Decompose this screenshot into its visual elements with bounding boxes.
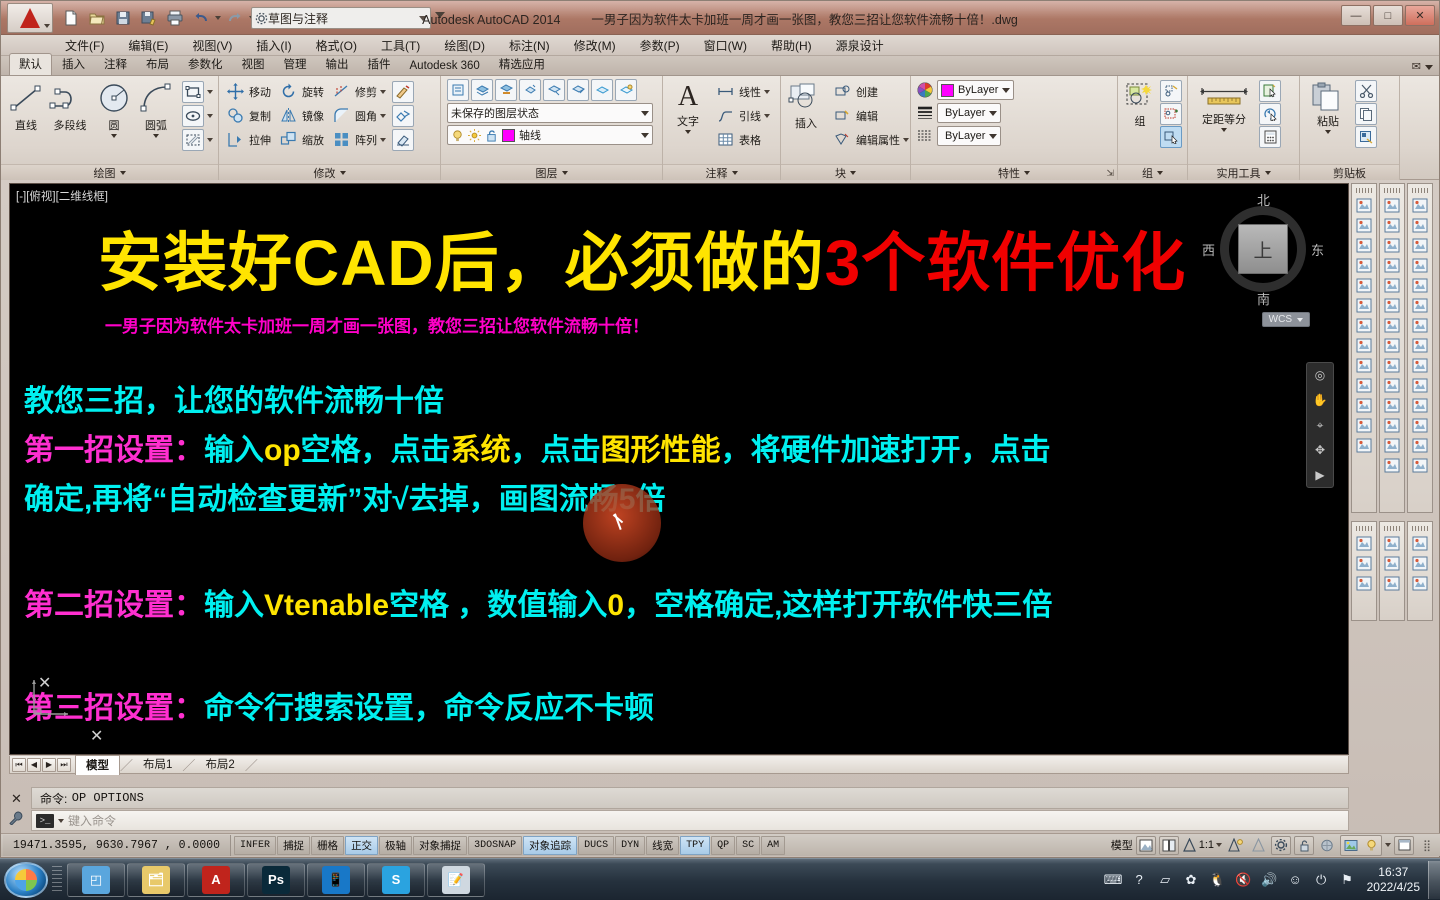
modify-scale-button[interactable]: 缩放 xyxy=(277,128,324,151)
menu-item[interactable]: 源泉设计 xyxy=(824,35,896,56)
layer-isolate-icon[interactable] xyxy=(567,79,589,101)
chevron-down-icon[interactable] xyxy=(120,171,126,175)
toolbar-button-1-icon[interactable] xyxy=(1382,534,1402,553)
color-wheel-icon[interactable] xyxy=(917,82,933,98)
property-row-linetype: ByLayer xyxy=(917,126,1001,146)
status-toggle[interactable]: 栅格 xyxy=(311,836,344,855)
toolbar-button-14-icon[interactable] xyxy=(1382,456,1402,475)
qq-penguin-icon[interactable]: 🐧 xyxy=(1208,870,1227,889)
toolbar-button-5-icon[interactable] xyxy=(1354,276,1374,295)
modify-trim-button[interactable]: 修剪 xyxy=(330,80,386,103)
toolbar-button-3-icon[interactable] xyxy=(1354,236,1374,255)
status-toggle[interactable]: 线宽 xyxy=(646,836,679,855)
toolbar-button-4-icon[interactable] xyxy=(1382,256,1402,275)
taskbar-item-autocad[interactable]: A xyxy=(187,863,245,897)
toolbar-button-1-icon[interactable] xyxy=(1382,196,1402,215)
view-cube-east-label[interactable]: 东 xyxy=(1311,240,1324,259)
layout-nav-button[interactable]: ▶ xyxy=(42,758,56,772)
menu-item[interactable]: 绘图(D) xyxy=(432,35,497,56)
toolbar-button-6-icon[interactable] xyxy=(1410,296,1430,315)
toolbar-grip[interactable] xyxy=(1356,526,1372,531)
chevron-down-icon[interactable] xyxy=(58,819,64,823)
ribbon-minimize-icon[interactable] xyxy=(1425,65,1433,70)
chevron-down-icon[interactable] xyxy=(1265,171,1271,175)
title-bar: 草图与注释 Autodesk AutoCAD 2014 一男子因为软件太卡加班一… xyxy=(1,1,1439,35)
chevron-down-icon[interactable] xyxy=(153,134,159,138)
canvas-text-run: 输入 xyxy=(204,589,264,622)
toolbar-button-3-icon[interactable] xyxy=(1382,574,1402,593)
action-center-icon[interactable]: ⚑ xyxy=(1338,870,1357,889)
model-space-icon[interactable] xyxy=(1136,836,1156,855)
block-insert-label: 插入 xyxy=(795,115,817,131)
annotation-scale-control[interactable]: 1:1 xyxy=(1182,838,1222,852)
canvas-subtitle-text: 一男子因为软件太卡加班一周才画一张图，教您三招让您软件流畅十倍！ xyxy=(105,312,649,337)
status-toggle[interactable]: 对象追踪 xyxy=(523,836,577,855)
ribbon-panel-clipboard-title[interactable]: 剪贴板 xyxy=(1300,164,1399,180)
menu-item[interactable]: 窗口(W) xyxy=(692,35,759,56)
ribbon-panel-properties-title[interactable]: 特性 ⇲ xyxy=(911,164,1117,180)
status-toggle[interactable]: 对象捕捉 xyxy=(413,836,467,855)
annotation-visibility-icon[interactable] xyxy=(1225,836,1245,855)
mirror-icon xyxy=(277,105,299,127)
toolbar-button-8-icon[interactable] xyxy=(1410,336,1430,355)
block-create-button[interactable]: 创建 xyxy=(831,80,909,103)
modify-move-button[interactable]: 移动 xyxy=(224,80,271,103)
layout-nav-button[interactable]: ⏮ xyxy=(12,758,26,772)
toolbar-button-13-icon[interactable] xyxy=(1354,436,1374,455)
layer-properties-icon[interactable] xyxy=(447,79,469,101)
chevron-down-icon[interactable] xyxy=(903,138,909,142)
toolbar-button-11-icon[interactable] xyxy=(1410,396,1430,415)
modify-stretch-button[interactable]: 拉伸 xyxy=(224,128,271,151)
menu-item[interactable]: 插入(I) xyxy=(244,35,303,56)
draw-arc-button[interactable]: 圆弧 xyxy=(136,80,176,138)
toolbar-button-10-icon[interactable] xyxy=(1410,376,1430,395)
group-edit-icon[interactable] xyxy=(1160,103,1182,125)
toolbar-button-4-icon[interactable] xyxy=(1354,256,1374,275)
status-toggle[interactable]: INFER xyxy=(234,836,276,855)
canvas-text-run: 确定,再将“自动检查更新”对√去掉，画图流畅5倍 xyxy=(24,483,665,516)
toolbar-button-6-icon[interactable] xyxy=(1354,296,1374,315)
layout-nav-button[interactable]: ⏭ xyxy=(57,758,71,772)
lineweight-icon[interactable] xyxy=(917,105,933,121)
close-button[interactable]: ✕ xyxy=(1405,5,1435,26)
ribbon-panel-draw: 直线 多段线 圆 圆弧 xyxy=(1,76,219,180)
toolbar-button-9-icon[interactable] xyxy=(1410,356,1430,375)
status-toggle[interactable]: TPY xyxy=(680,836,710,855)
chevron-down-icon[interactable] xyxy=(764,114,770,118)
status-toggle[interactable]: 极轴 xyxy=(379,836,412,855)
toolbar-button-2-icon[interactable] xyxy=(1382,216,1402,235)
toolbar-button-13-icon[interactable] xyxy=(1382,436,1402,455)
autocad-window: 草图与注释 Autodesk AutoCAD 2014 一男子因为软件太卡加班一… xyxy=(0,0,1440,858)
color-combo[interactable]: ByLayer xyxy=(937,80,1014,100)
toolbar-button-2-icon[interactable] xyxy=(1354,216,1374,235)
ribbon-tab[interactable]: 输出 xyxy=(317,54,358,75)
zoom-extents-icon[interactable]: ⌖ xyxy=(1310,416,1330,434)
canvas-text-run: 系统 xyxy=(451,434,511,467)
toolbar-grip[interactable] xyxy=(1412,526,1428,531)
ribbon-panel-block-title[interactable]: 块 xyxy=(781,164,910,180)
toolbar-grip[interactable] xyxy=(1384,526,1400,531)
chevron-down-icon[interactable] xyxy=(641,133,649,138)
taskbar-item-mobile[interactable]: 📱 xyxy=(307,863,365,897)
command-input[interactable]: >_ 键入命令 xyxy=(31,810,1349,831)
ribbon-tab[interactable]: 精选应用 xyxy=(490,54,554,75)
coordinate-display[interactable]: 19471.3595, 9630.7967 , 0.0000 xyxy=(3,835,231,856)
chevron-down-icon[interactable] xyxy=(111,134,117,138)
menu-item[interactable]: 文件(F) xyxy=(53,35,116,56)
volume-mute-icon[interactable]: 🔇 xyxy=(1234,870,1253,889)
toolbar-button-12-icon[interactable] xyxy=(1410,416,1430,435)
ribbon-tab[interactable]: 视图 xyxy=(233,54,274,75)
canvas-text-line: 第一招设置：输入op空格，点击系统，点击图形性能，将硬件加速打开，点击 xyxy=(24,425,1051,469)
utilities-measure-button[interactable]: 定距等分 xyxy=(1193,80,1255,132)
isolate-objects-group[interactable] xyxy=(1340,835,1382,856)
draw-arc-label: 圆弧 xyxy=(145,117,167,133)
toolbar-button-5-icon[interactable] xyxy=(1410,276,1430,295)
annotation-linear-label: 线性 xyxy=(739,84,761,100)
maximize-button[interactable]: □ xyxy=(1373,5,1403,26)
layout-nav-button[interactable]: ◀ xyxy=(27,758,41,772)
toolbar-button-2-icon[interactable] xyxy=(1410,216,1430,235)
chevron-down-icon[interactable] xyxy=(685,130,691,134)
view-cube-south-label[interactable]: 南 xyxy=(1257,289,1270,308)
screen: 草图与注释 Autodesk AutoCAD 2014 一男子因为软件太卡加班一… xyxy=(0,0,1440,900)
status-toggle[interactable]: DYN xyxy=(615,836,645,855)
view-cube-west-label[interactable]: 西 xyxy=(1202,240,1215,259)
toolbar-button-2-icon[interactable] xyxy=(1354,554,1374,573)
ribbon-panel-annotation-title[interactable]: 注释 xyxy=(663,164,780,180)
layer-match-icon[interactable] xyxy=(519,79,541,101)
modify-erase-button[interactable] xyxy=(392,128,414,151)
toolbar-grip[interactable] xyxy=(1412,188,1428,193)
layer-state-combo[interactable]: 未保存的图层状态 xyxy=(447,103,653,123)
toolbar-button-7-icon[interactable] xyxy=(1354,316,1374,335)
help-icon[interactable]: ? xyxy=(1130,870,1149,889)
annotation-table-label: 表格 xyxy=(739,132,761,148)
toolbar-button-13-icon[interactable] xyxy=(1410,436,1430,455)
ribbon-tab[interactable]: 插件 xyxy=(359,54,400,75)
show-desktop-button[interactable] xyxy=(1428,861,1440,899)
draw-line-button[interactable]: 直线 xyxy=(6,80,46,133)
properties-dialog-launcher[interactable]: ⇲ xyxy=(1106,168,1114,179)
view-cube-top-face[interactable]: 上 xyxy=(1238,224,1288,274)
block-edit-button[interactable]: 编辑 xyxy=(831,104,909,127)
rotate-icon xyxy=(277,81,299,103)
layer-off-icon[interactable] xyxy=(543,79,565,101)
ribbon-tab[interactable]: 插入 xyxy=(53,54,94,75)
point-marker: ✕ xyxy=(90,729,103,745)
linetype-icon[interactable] xyxy=(917,128,933,144)
draw-hatch-button[interactable] xyxy=(182,128,213,151)
toolbar-button-7-icon[interactable] xyxy=(1410,316,1430,335)
taskbar-grip[interactable] xyxy=(52,866,62,894)
menu-item[interactable]: 工具(T) xyxy=(369,35,432,56)
wcs-selector[interactable]: WCS xyxy=(1262,312,1310,327)
sun-icon xyxy=(468,129,481,142)
layer-on-icon[interactable] xyxy=(615,79,637,101)
quick-select-icon[interactable] xyxy=(1259,80,1281,102)
chevron-down-icon[interactable] xyxy=(1002,88,1010,93)
toolbar-button-2-icon[interactable] xyxy=(1382,554,1402,573)
layer-color-swatch[interactable] xyxy=(502,129,515,142)
layout-tab[interactable]: 布局1 xyxy=(133,755,182,774)
canvas-text-line: 确定,再将“自动检查更新”对√去掉，画图流畅5倍 xyxy=(24,474,665,518)
taskbar-item-notepad[interactable]: 📝 xyxy=(427,863,485,897)
toolbar-button-1-icon[interactable] xyxy=(1410,196,1430,215)
chevron-down-icon[interactable] xyxy=(1325,130,1331,134)
command-history: 命令: OP OPTIONS xyxy=(31,787,1349,809)
calculator-icon[interactable] xyxy=(1259,126,1281,148)
space-label[interactable]: 模型 xyxy=(1111,837,1133,853)
command-line-area: ✕ 命令: OP OPTIONS >_ 键入命令 xyxy=(9,787,1349,832)
layout-tab[interactable]: 布局2 xyxy=(195,755,244,774)
draw-ellipse-button[interactable] xyxy=(182,104,213,127)
toolbar-button-9-icon[interactable] xyxy=(1382,356,1402,375)
menu-item[interactable]: 参数(P) xyxy=(628,35,692,56)
annotation-leader-button[interactable]: 引线 xyxy=(714,104,770,127)
toolbar-button-9-icon[interactable] xyxy=(1354,356,1374,375)
unlock-icon xyxy=(485,129,498,142)
toolbar-right-3 xyxy=(1407,183,1433,513)
ribbon-tab[interactable]: 参数化 xyxy=(179,54,232,75)
light-icon[interactable] xyxy=(1361,836,1381,855)
menu-item[interactable]: 标注(N) xyxy=(497,35,562,56)
isolate-objects-icon[interactable] xyxy=(1341,836,1361,855)
command-options-icon[interactable] xyxy=(9,811,23,828)
layout-tab[interactable]: 模型 xyxy=(75,755,120,775)
chevron-down-icon[interactable] xyxy=(764,90,770,94)
taskbar-item-control-panel[interactable]: ◰ xyxy=(67,863,125,897)
view-cube-north-label[interactable]: 北 xyxy=(1257,190,1270,209)
modify-match-properties-button[interactable] xyxy=(392,80,414,103)
toolbar-button-3-icon[interactable] xyxy=(1410,236,1430,255)
ribbon-panel-group-title[interactable]: 组 xyxy=(1118,164,1187,180)
block-insert-button[interactable]: 插入 xyxy=(786,80,826,131)
canvas-text-run: ，点击 xyxy=(511,434,601,467)
panel-label: 实用工具 xyxy=(1217,165,1261,181)
toolbar-button-12-icon[interactable] xyxy=(1382,416,1402,435)
smiley-icon[interactable]: ☺ xyxy=(1286,870,1305,889)
rectangle-icon xyxy=(182,81,204,103)
annotation-text-button[interactable]: A 文字 xyxy=(668,80,708,134)
lineweight-combo[interactable]: ByLayer xyxy=(937,103,1001,123)
close-icon[interactable]: ✕ xyxy=(11,791,22,807)
menu-item[interactable]: 视图(V) xyxy=(180,35,244,56)
linetype-value: ByLayer xyxy=(945,130,985,142)
modify-explode-button[interactable] xyxy=(392,104,414,127)
clipboard-paste-button[interactable]: 粘贴 xyxy=(1305,80,1351,134)
ribbon-panel-utilities-title[interactable]: 实用工具 xyxy=(1188,164,1299,180)
chevron-down-icon[interactable] xyxy=(641,111,649,116)
taskbar-item-explorer[interactable]: 🗂 xyxy=(127,863,185,897)
ribbon-tab[interactable]: Autodesk 360 xyxy=(401,58,489,75)
ribbon-tab[interactable]: 布局 xyxy=(137,54,178,75)
canvas-text-run: 空格 ，数值输入 xyxy=(389,589,607,622)
chevron-down-icon[interactable] xyxy=(1297,318,1303,322)
auto-scale-icon[interactable] xyxy=(1248,836,1268,855)
modify-trim-label: 修剪 xyxy=(355,84,377,100)
show-hidden-icons-icon[interactable]: ▱ xyxy=(1156,870,1175,889)
toolbar-button-5-icon[interactable] xyxy=(1382,276,1402,295)
layer-freeze-icon[interactable] xyxy=(591,79,613,101)
drawing-canvas[interactable]: [-][俯视][二维线框] 安装好CAD后，必须做的3个软件优化 一男子因为软件… xyxy=(9,183,1349,755)
menu-item[interactable]: 格式(O) xyxy=(304,35,369,56)
layout-view-icon[interactable] xyxy=(1159,836,1179,855)
ribbon-search-icon[interactable]: ✉ xyxy=(1412,60,1421,73)
toolbar-button-11-icon[interactable] xyxy=(1382,396,1402,415)
chevron-down-icon[interactable] xyxy=(732,171,738,175)
draw-polyline-button[interactable]: 多段线 xyxy=(48,80,92,133)
layer-make-current-icon[interactable] xyxy=(495,79,517,101)
layer-previous-icon[interactable] xyxy=(471,79,493,101)
toolbar-button-6-icon[interactable] xyxy=(1382,296,1402,315)
view-cube[interactable]: 上 北 南 西 东 xyxy=(1208,194,1318,304)
ribbon-tab[interactable]: 管理 xyxy=(275,54,316,75)
chevron-down-icon[interactable] xyxy=(1024,171,1030,175)
chevron-down-icon[interactable] xyxy=(989,111,997,116)
chevron-down-icon[interactable] xyxy=(207,114,213,118)
showmotion-icon[interactable]: ▶ xyxy=(1310,466,1330,484)
draw-circle-button[interactable]: 圆 xyxy=(94,80,134,138)
group-selection-icon[interactable] xyxy=(1160,126,1182,148)
ribbon-panel-layer-title[interactable]: 图层 xyxy=(441,164,662,180)
menu-item[interactable]: 修改(M) xyxy=(562,35,628,56)
chevron-down-icon[interactable] xyxy=(1157,171,1163,175)
status-toggle[interactable]: AM xyxy=(761,836,785,855)
pan-icon[interactable]: ✋ xyxy=(1310,391,1330,409)
lineweight-value: ByLayer xyxy=(945,107,985,119)
keyboard-icon[interactable]: ⌨ xyxy=(1104,870,1123,889)
chevron-down-icon[interactable] xyxy=(1216,843,1222,847)
toolbar-button-3-icon[interactable] xyxy=(1410,574,1430,593)
chevron-down-icon[interactable] xyxy=(207,138,213,142)
paste-icon xyxy=(1309,82,1347,112)
toolbar-button-10-icon[interactable] xyxy=(1354,376,1374,395)
toolbar-button-12-icon[interactable] xyxy=(1354,416,1374,435)
menu-item[interactable]: 帮助(H) xyxy=(759,35,824,56)
command-input-placeholder: 键入命令 xyxy=(68,812,116,829)
menu-item[interactable]: 编辑(E) xyxy=(116,35,180,56)
toolbar-button-1-icon[interactable] xyxy=(1410,534,1430,553)
chevron-down-icon[interactable] xyxy=(562,171,568,175)
annotation-linear-button[interactable]: 线性 xyxy=(714,80,770,103)
toolbar-grip[interactable] xyxy=(1356,188,1372,193)
canvas-text-line: 第三招设置：命令行搜索设置，命令反应不卡顿 xyxy=(24,683,654,727)
workspace-switch-icon[interactable] xyxy=(1271,836,1291,855)
copy-clip-icon[interactable] xyxy=(1355,103,1377,125)
property-row-color: ByLayer xyxy=(917,80,1014,100)
ribbon-tab[interactable]: 注释 xyxy=(95,54,136,75)
power-icon[interactable]: ⏻ xyxy=(1312,870,1331,889)
ungroup-icon[interactable] xyxy=(1160,80,1182,102)
modify-copy-button[interactable]: 复制 xyxy=(224,104,271,127)
chevron-down-icon[interactable] xyxy=(340,171,346,175)
annotation-table-button[interactable]: 表格 xyxy=(714,128,770,151)
status-toggle[interactable]: 正交 xyxy=(345,836,378,855)
chevron-down-icon[interactable] xyxy=(850,171,856,175)
toolbar-grip[interactable] xyxy=(1384,188,1400,193)
status-bar-grip[interactable]: ⣿ xyxy=(1417,836,1437,855)
modify-mirror-button[interactable]: 镜像 xyxy=(277,104,324,127)
canvas-text-run: 0 xyxy=(607,589,624,622)
chevron-down-icon[interactable] xyxy=(207,90,213,94)
toolbar-button-7-icon[interactable] xyxy=(1382,316,1402,335)
chevron-down-icon[interactable] xyxy=(1385,843,1391,847)
viewport-label[interactable]: [-][俯视][二维线框] xyxy=(16,188,108,204)
ribbon-panel-draw-title[interactable]: 绘图 xyxy=(1,164,218,180)
toolbar-button-1-icon[interactable] xyxy=(1354,534,1374,553)
steering-wheel-icon[interactable]: ◎ xyxy=(1310,366,1330,384)
clean-screen-icon[interactable] xyxy=(1394,836,1414,855)
draw-rectangle-button[interactable] xyxy=(182,80,213,103)
block-edit-attribute-button[interactable]: 编辑属性 xyxy=(831,128,909,151)
chevron-down-icon[interactable] xyxy=(380,114,386,118)
status-toggle[interactable]: SC xyxy=(736,836,760,855)
chevron-down-icon[interactable] xyxy=(989,134,997,139)
toolbar-button-14-icon[interactable] xyxy=(1410,456,1430,475)
cut-icon[interactable] xyxy=(1355,80,1377,102)
group-button[interactable]: 组 xyxy=(1123,80,1157,129)
toolbar-button-3-icon[interactable] xyxy=(1382,236,1402,255)
toolbar-button-11-icon[interactable] xyxy=(1354,396,1374,415)
draw-polyline-label: 多段线 xyxy=(54,117,87,133)
toolbar-button-8-icon[interactable] xyxy=(1354,336,1374,355)
modify-rotate-button[interactable]: 旋转 xyxy=(277,80,324,103)
flower-icon[interactable]: ✿ xyxy=(1182,870,1201,889)
quick-calc-sel-icon[interactable] xyxy=(1259,103,1281,125)
status-toggle[interactable]: QP xyxy=(711,836,735,855)
taskbar-item-explorer-icon: 🗂 xyxy=(142,866,170,894)
hardware-accel-icon[interactable] xyxy=(1317,836,1337,855)
linetype-combo[interactable]: ByLayer xyxy=(937,126,1001,146)
ribbon-panel-modify-title[interactable]: 修改 xyxy=(219,164,440,180)
status-toggle[interactable]: 捕捉 xyxy=(277,836,310,855)
copy-icon xyxy=(224,105,246,127)
block-edit-attribute-label: 编辑属性 xyxy=(856,132,900,148)
ellipse-icon xyxy=(182,105,204,127)
chevron-down-icon[interactable] xyxy=(380,90,386,94)
clock[interactable]: 16:37 2022/4/25 xyxy=(1363,865,1428,895)
toolbar-button-4-icon[interactable] xyxy=(1410,256,1430,275)
volume-icon[interactable]: 🔊 xyxy=(1260,870,1279,889)
chevron-down-icon[interactable] xyxy=(380,138,386,142)
lock-toolbars-icon[interactable] xyxy=(1294,836,1314,855)
chevron-down-icon[interactable] xyxy=(1221,128,1227,132)
orbit-icon[interactable]: ✥ xyxy=(1310,441,1330,459)
minimize-button[interactable]: — xyxy=(1341,5,1371,26)
toolbar-button-1-icon[interactable] xyxy=(1354,196,1374,215)
taskbar-item-sogou[interactable]: S xyxy=(367,863,425,897)
toolbar-button-3-icon[interactable] xyxy=(1354,574,1374,593)
taskbar-item-photoshop[interactable]: Ps xyxy=(247,863,305,897)
ribbon-tab[interactable]: 默认 xyxy=(9,53,52,75)
hatch-icon xyxy=(182,129,204,151)
start-button[interactable] xyxy=(4,862,48,898)
toolbar-button-2-icon[interactable] xyxy=(1410,554,1430,573)
paste-special-icon[interactable] xyxy=(1355,126,1377,148)
toolbar-button-8-icon[interactable] xyxy=(1382,336,1402,355)
toolbar-button-10-icon[interactable] xyxy=(1382,376,1402,395)
current-layer-combo[interactable]: 轴线 xyxy=(447,125,653,145)
erase-icon xyxy=(392,129,414,151)
modify-fillet-button[interactable]: 圆角 xyxy=(330,104,386,127)
status-toggle[interactable]: DUCS xyxy=(578,836,614,855)
status-toggle[interactable]: 3DOSNAP xyxy=(468,836,522,855)
modify-array-button[interactable]: 阵列 xyxy=(330,128,386,151)
ribbon-tab-strip: 默认插入注释布局参数化视图管理输出插件Autodesk 360精选应用✉ xyxy=(1,56,1439,76)
